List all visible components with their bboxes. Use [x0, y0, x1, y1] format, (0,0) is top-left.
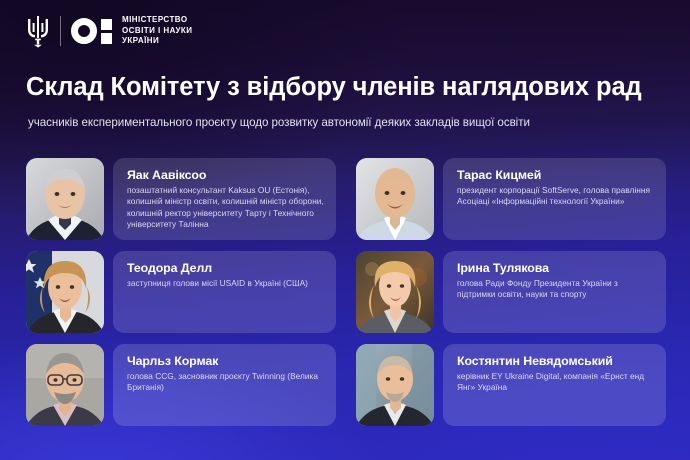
page-subtitle: учасників експериментального проєкту щод… [28, 115, 673, 130]
member-name: Ірина Тулякова [457, 261, 654, 276]
members-grid: Яак Аавіксоо позаштатний консультант Kak… [26, 158, 666, 426]
ministry-header: МІНІСТЕРСТВО ОСВІТИ І НАУКИ УКРАЇНИ [26, 14, 192, 48]
ministry-line-2: ОСВІТИ І НАУКИ [122, 26, 192, 37]
avatar [356, 344, 434, 426]
member-card: Ірина Тулякова голова Ради Фонду Президе… [356, 251, 666, 333]
member-card: Тарас Кицмей президент корпорації SoftSe… [356, 158, 666, 240]
avatar [26, 344, 104, 426]
member-role: керівник EY Ukraine Digital, компанія «Е… [457, 371, 654, 394]
ministry-line-1: МІНІСТЕРСТВО [122, 15, 192, 26]
avatar [26, 158, 104, 240]
member-info: Яак Аавіксоо позаштатний консультант Kak… [113, 158, 336, 240]
member-role: президент корпорації SoftServe, голова п… [457, 185, 654, 208]
member-name: Костянтин Невядомський [457, 354, 654, 369]
member-role: заступниця голови місії USAID в Україні … [127, 278, 324, 289]
mon-o-mark-icon: МІНІСТЕРСТВО ОСВІТИ І НАУКИ УКРАЇНИ [71, 15, 192, 47]
member-info: Теодора Делл заступниця голови місії USA… [113, 251, 336, 333]
member-info: Костянтин Невядомський керівник EY Ukrai… [443, 344, 666, 426]
page-title: Склад Комітету з відбору членів наглядов… [26, 72, 666, 102]
member-role: голова Ради Фонду Президента України з п… [457, 278, 654, 301]
avatar [356, 251, 434, 333]
member-info: Ірина Тулякова голова Ради Фонду Президе… [443, 251, 666, 333]
member-role: голова CCG, засновник проєкту Twinning (… [127, 371, 324, 394]
member-role: позаштатний консультант Kaksus OU (Естон… [127, 185, 324, 231]
member-card: Теодора Делл заступниця голови місії USA… [26, 251, 336, 333]
member-name: Чарльз Кормак [127, 354, 324, 369]
mon-circle-icon [71, 18, 97, 44]
member-card: Костянтин Невядомський керівник EY Ukrai… [356, 344, 666, 426]
member-name: Теодора Делл [127, 261, 324, 276]
member-name: Тарас Кицмей [457, 168, 654, 183]
member-info: Чарльз Кормак голова CCG, засновник проє… [113, 344, 336, 426]
member-info: Тарас Кицмей президент корпорації SoftSe… [443, 158, 666, 240]
ministry-line-3: УКРАЇНИ [122, 36, 192, 47]
avatar [26, 251, 104, 333]
avatar [356, 158, 434, 240]
ministry-name: МІНІСТЕРСТВО ОСВІТИ І НАУКИ УКРАЇНИ [122, 15, 192, 47]
slide-root: МІНІСТЕРСТВО ОСВІТИ І НАУКИ УКРАЇНИ Скла… [0, 0, 690, 460]
member-card: Яак Аавіксоо позаштатний консультант Kak… [26, 158, 336, 240]
member-name: Яак Аавіксоо [127, 168, 324, 183]
member-card: Чарльз Кормак голова CCG, засновник проє… [26, 344, 336, 426]
mon-squares-icon [101, 19, 112, 44]
header-divider [60, 16, 61, 46]
ukraine-trident-icon [26, 14, 50, 48]
